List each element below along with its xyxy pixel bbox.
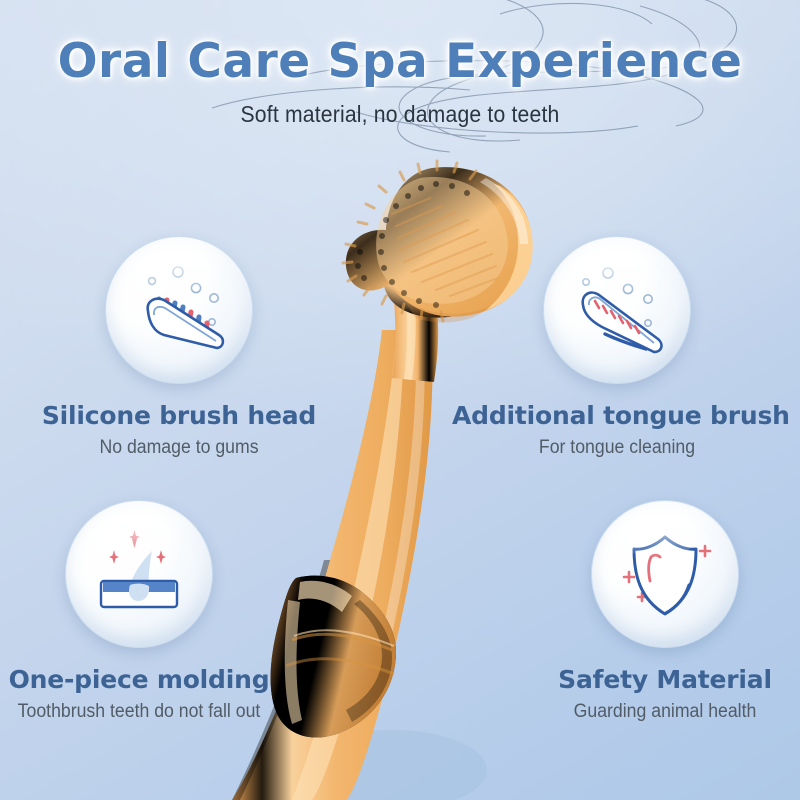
feature-title: One-piece molding	[0, 665, 284, 694]
bristle-root-icon	[84, 519, 194, 629]
feature-title: Additional tongue brush	[452, 401, 782, 430]
feature-title: Silicone brush head	[18, 401, 340, 430]
feature-subtitle: Toothbrush teeth do not fall out	[4, 701, 274, 723]
page-title: Oral Care Spa Experience	[0, 34, 800, 89]
header: Oral Care Spa Experience Soft material, …	[0, 0, 800, 128]
product-infographic: Oral Care Spa Experience Soft material, …	[0, 0, 800, 800]
feature-icon-orb	[65, 500, 213, 648]
feature-icon-orb	[543, 236, 691, 384]
feature-subtitle: Guarding animal health	[530, 701, 800, 723]
feature-icon-orb	[591, 500, 739, 648]
tongue-brush-icon	[562, 255, 672, 365]
feature-subtitle: For tongue cleaning	[464, 437, 771, 459]
feature-additional-tongue-brush: Additional tongue brush For tongue clean…	[452, 236, 782, 459]
feature-silicone-brush-head: Silicone brush head No damage to gums	[18, 236, 340, 459]
feature-title: Safety Material	[520, 665, 800, 694]
feature-icon-orb	[105, 236, 253, 384]
feature-safety-material: Safety Material Guarding animal health	[520, 500, 800, 723]
feature-subtitle: No damage to gums	[29, 437, 328, 459]
feature-one-piece-molding: One-piece molding Toothbrush teeth do no…	[0, 500, 284, 723]
shield-icon	[610, 519, 720, 629]
page-subtitle: Soft material, no damage to teeth	[32, 101, 768, 128]
toothbrush-head-icon	[124, 255, 234, 365]
